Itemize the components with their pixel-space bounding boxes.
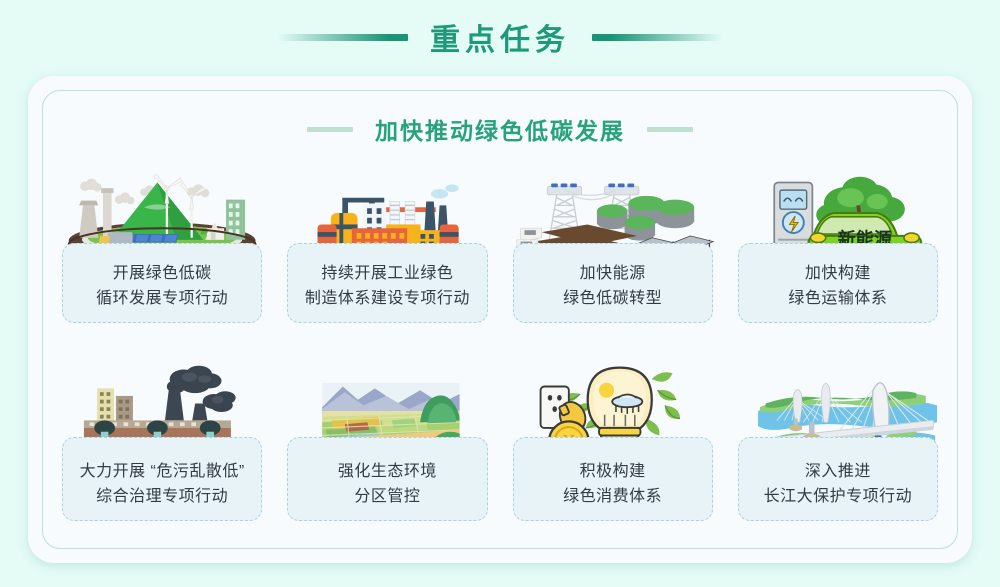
task-line-1: 开展绿色低碳 [113,261,212,286]
task-card-yangtze-protection[interactable]: 深入推进 长江大保护专项行动 [738,362,938,548]
task-line-2: 绿色低碳转型 [563,286,662,311]
title-rule-right-icon [592,34,722,41]
title-rule-left-icon [278,34,408,41]
subtitle-rule-left-icon [307,127,353,132]
task-card-eco-zoning-control[interactable]: 强化生态环境 分区管控 [287,362,487,548]
task-line-2: 制造体系建设专项行动 [305,286,470,311]
task-line-1: 加快构建 [805,261,871,286]
task-line-2: 绿色消费体系 [563,484,662,509]
task-card-body: 开展绿色低碳 循环发展专项行动 [62,243,262,323]
task-line-1: 加快能源 [580,261,646,286]
task-card-hazardous-polluting-cleanup[interactable]: 大力开展 “危污乱散低” 综合治理专项行动 [62,362,262,548]
section-subtitle: 加快推动绿色低碳发展 [375,112,625,146]
task-card-body: 积极构建 绿色消费体系 [513,437,713,521]
task-line-2: 综合治理专项行动 [96,484,228,509]
task-card-green-low-carbon-circular[interactable]: 开展绿色低碳 循环发展专项行动 [62,164,262,350]
subtitle-rule-right-icon [647,127,693,132]
header: 重点任务 [0,14,1000,60]
task-line-2: 循环发展专项行动 [96,286,228,311]
task-card-energy-low-carbon-transition[interactable]: 加快能源 绿色低碳转型 [513,164,713,350]
task-card-green-consumption-system[interactable]: ¥ [513,362,713,548]
task-line-2: 长江大保护专项行动 [764,484,913,509]
page-title: 重点任务 [430,15,570,59]
task-line-2: 绿色运输体系 [788,286,887,311]
task-grid: 开展绿色低碳 循环发展专项行动 [62,164,938,548]
task-card-body: 深入推进 长江大保护专项行动 [738,437,938,521]
task-card-industrial-green-manufacturing[interactable]: 持续开展工业绿色 制造体系建设专项行动 [287,164,487,350]
task-line-1: 大力开展 “危污乱散低” [80,459,245,484]
task-card-body: 持续开展工业绿色 制造体系建设专项行动 [287,243,487,323]
task-line-1: 强化生态环境 [338,459,437,484]
task-line-1: 积极构建 [580,459,646,484]
section-subtitle-row: 加快推动绿色低碳发展 [28,112,972,146]
task-card-body: 加快构建 绿色运输体系 [738,243,938,323]
task-card-body: 大力开展 “危污乱散低” 综合治理专项行动 [62,437,262,521]
task-card-body: 加快能源 绿色低碳转型 [513,243,713,323]
task-line-2: 分区管控 [354,484,420,509]
content-panel: 加快推动绿色低碳发展 [28,76,972,563]
task-line-1: 持续开展工业绿色 [321,261,453,286]
infographic-root: 重点任务 加快推动绿色低碳发展 [0,0,1000,587]
task-card-body: 强化生态环境 分区管控 [287,437,487,521]
task-line-1: 深入推进 [805,459,871,484]
task-card-green-transport-system[interactable]: 新能源 加快构建 绿色运输体系 [738,164,938,350]
